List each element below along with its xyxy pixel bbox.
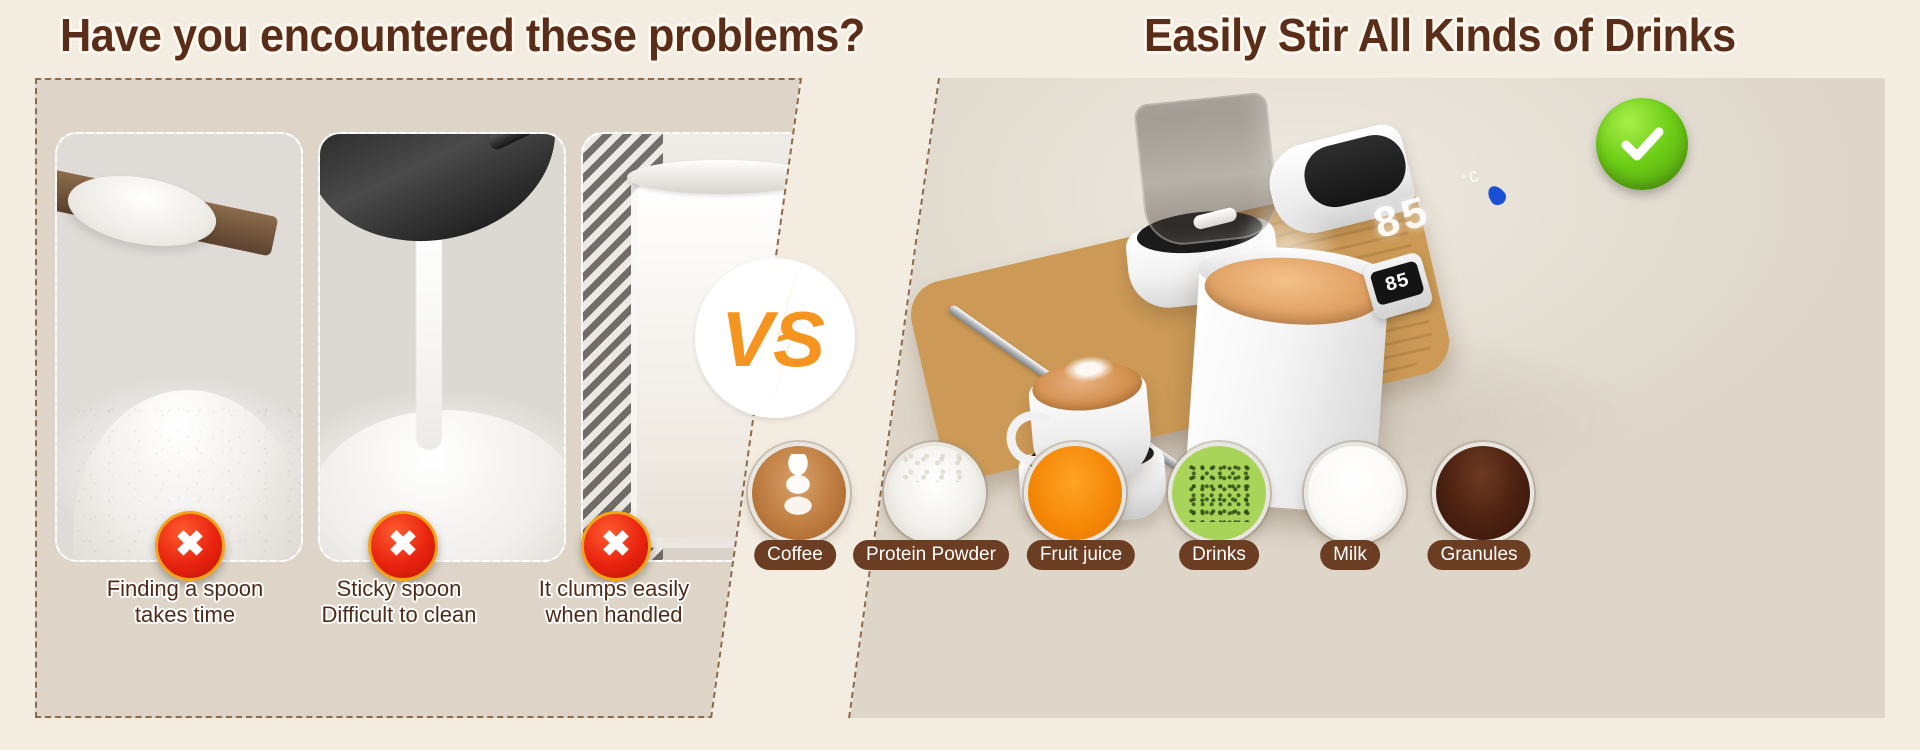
drink-swatch-protein-powder bbox=[884, 442, 986, 544]
x-mark-glyph: ✖ bbox=[601, 526, 631, 562]
x-mark-glyph: ✖ bbox=[175, 526, 205, 562]
drink-swatch-coffee bbox=[748, 442, 850, 544]
ladle-handle-shape bbox=[486, 132, 566, 152]
problem-caption: It clumps easily when handled bbox=[474, 576, 754, 628]
check-mark-icon bbox=[1596, 98, 1688, 190]
drink-label-fruit-juice: Fruit juice bbox=[1027, 540, 1135, 570]
versus-badge: VS bbox=[695, 258, 855, 418]
problem-card bbox=[318, 132, 566, 562]
milk-pool-shape bbox=[318, 410, 566, 562]
milk-pour-photo bbox=[320, 134, 564, 560]
drink-swatch-drinks bbox=[1168, 442, 1270, 544]
problem-caption-line: It clumps easily bbox=[474, 576, 754, 602]
matcha-powder-texture bbox=[1188, 464, 1250, 522]
banner-root: Have you encountered these problems? Eas… bbox=[0, 0, 1920, 750]
drink-label-protein-powder: Protein Powder bbox=[853, 540, 1009, 570]
powder-scoop-photo bbox=[57, 134, 301, 560]
ladle-shape bbox=[318, 132, 566, 253]
temperature-module-display: 85 bbox=[1369, 260, 1425, 306]
page-title-left: Have you encountered these problems? bbox=[60, 8, 865, 62]
x-mark-icon: ✖ bbox=[581, 511, 651, 581]
drink-swatch-fruit-juice bbox=[1024, 442, 1126, 544]
latte-art-pattern bbox=[774, 454, 822, 530]
milk-stream-shape bbox=[416, 220, 442, 450]
foam-texture bbox=[902, 452, 968, 482]
problem-caption-line: when handled bbox=[474, 602, 754, 628]
page-title-right: Easily Stir All Kinds of Drinks bbox=[1144, 8, 1736, 62]
drink-label-drinks: Drinks bbox=[1179, 540, 1259, 570]
problem-card bbox=[55, 132, 303, 562]
drink-swatch-milk bbox=[1304, 442, 1406, 544]
x-mark-icon: ✖ bbox=[368, 511, 438, 581]
x-mark-glyph: ✖ bbox=[388, 526, 418, 562]
drink-label-milk: Milk bbox=[1320, 540, 1380, 570]
drink-label-granules: Granules bbox=[1427, 540, 1530, 570]
x-mark-icon: ✖ bbox=[155, 511, 225, 581]
drink-label-coffee: Coffee bbox=[754, 540, 836, 570]
versus-label: VS bbox=[721, 295, 825, 383]
drink-swatch-granules bbox=[1432, 442, 1534, 544]
solution-scene: 85 °C 85 bbox=[840, 78, 1885, 718]
